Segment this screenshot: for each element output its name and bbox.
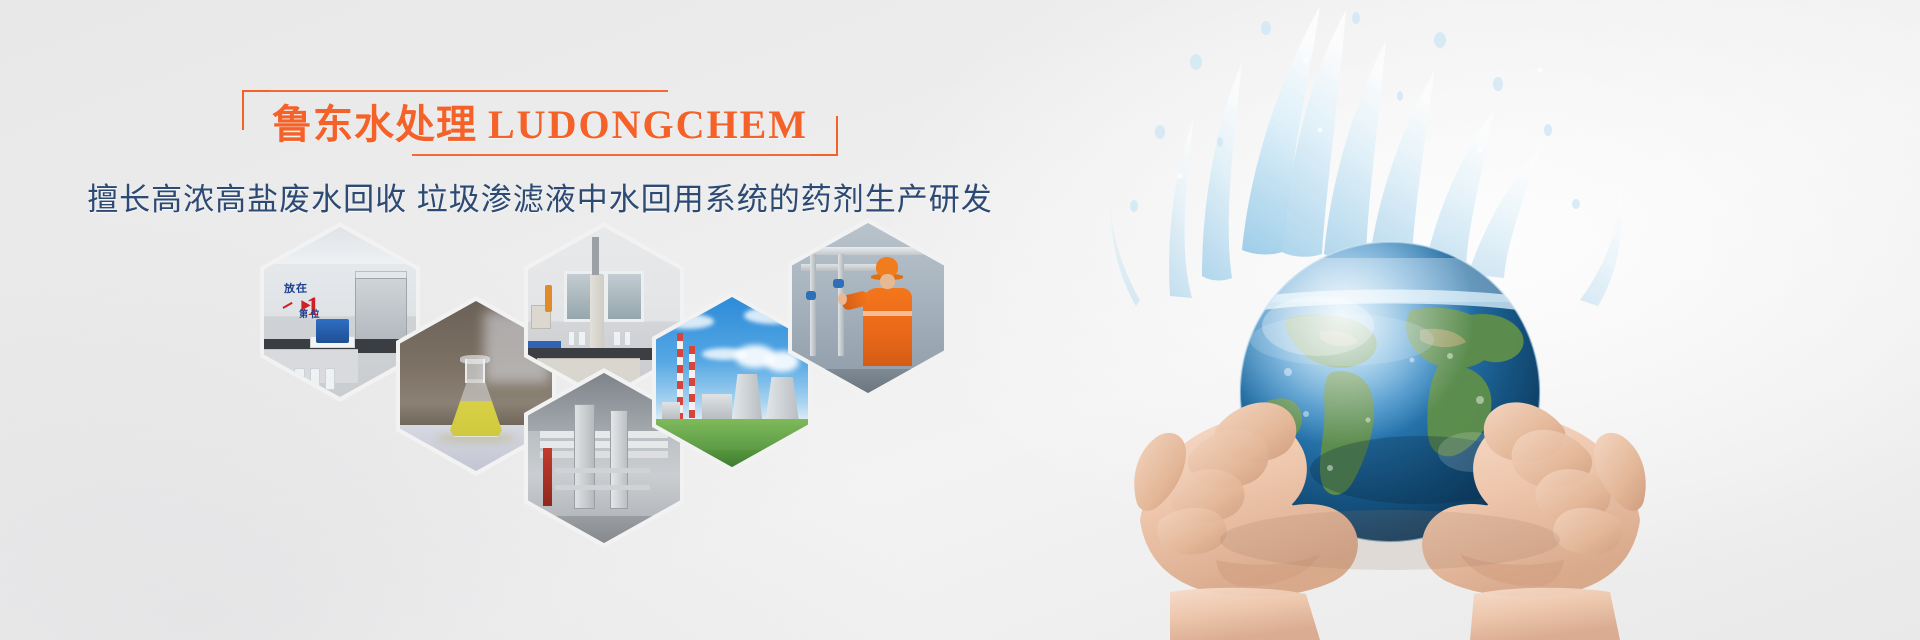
- page-subtitle: 擅长高浓高盐废水回收 垃圾渗滤液中水回用系统的药剂生产研发: [0, 174, 1080, 219]
- brand-title-cn: 鲁东水处理: [272, 102, 477, 147]
- brand-title-wrapper: 鲁东水处理 LUDONGCHEM: [242, 88, 838, 158]
- promo-banner: 鲁东水处理 LUDONGCHEM 擅长高浓高盐废水回收 垃圾渗滤液中水回用系统的…: [0, 0, 1920, 640]
- bracket-bottom-right-icon: [810, 116, 838, 156]
- banner-text-block: 鲁东水处理 LUDONGCHEM 擅长高浓高盐废水回收 垃圾渗滤液中水回用系统的…: [0, 88, 1080, 219]
- page-title: 鲁东水处理 LUDONGCHEM: [272, 92, 808, 150]
- bracket-top-left-icon: [242, 90, 270, 130]
- hex1-wall-caption-top: 放在: [283, 279, 308, 296]
- hands-holding-water-globe-artwork: [1020, 0, 1920, 640]
- brand-title-en: LUDONGCHEM: [488, 102, 808, 147]
- bracket-bottom-rule: [412, 154, 812, 156]
- hex1-wall-caption-bottom: 第 位: [299, 307, 320, 320]
